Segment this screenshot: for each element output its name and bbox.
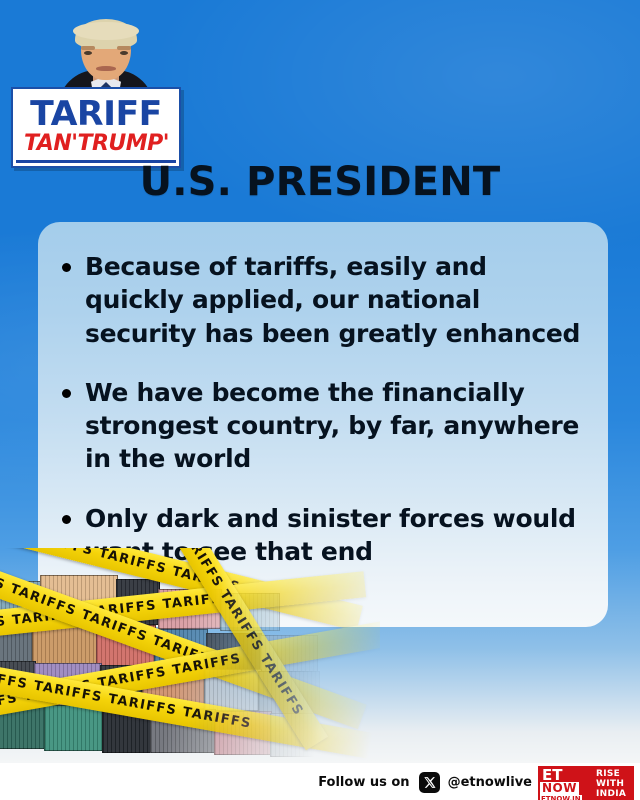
bullet-dot-icon: [62, 263, 71, 272]
tariff-tantrump-logo: TARIFF TAN'TRUMP': [13, 89, 179, 166]
tariff-tape-overlay: TARIFFS TARIFFS TARIFFS TARIFFS TARIFFS …: [0, 548, 380, 763]
bullet-dot-icon: [62, 389, 71, 398]
etnow-logo-mark: ET NOW ETNOW.IN: [540, 768, 592, 798]
follow-us-label: Follow us on: [318, 775, 409, 790]
etnow-tagline-line3: INDIA: [596, 789, 632, 799]
social-handle[interactable]: @etnowlive: [448, 775, 532, 790]
follow-us-group: Follow us on @etnowlive: [318, 772, 532, 793]
portrait-eye-right: [120, 51, 128, 55]
etnow-tagline-line1: RISE: [596, 769, 632, 779]
page-title: U.S. PRESIDENT: [0, 159, 640, 205]
portrait-brow-right: [117, 46, 131, 50]
bullet-text: Because of tariffs, easily and quickly a…: [85, 250, 584, 350]
bullet-item: Because of tariffs, easily and quickly a…: [62, 250, 584, 350]
artwork-area: TARIFF TAN'TRUMP' U.S. PRESIDENT Because…: [0, 0, 640, 763]
etnow-logo[interactable]: ET NOW ETNOW.IN RISE WITH INDIA: [538, 766, 634, 800]
etnow-tagline-line2: WITH: [596, 779, 632, 789]
portrait-mouth: [96, 66, 116, 71]
etnow-tagline: RISE WITH INDIA: [592, 768, 632, 798]
logo-line-tariff: TARIFF: [23, 97, 170, 131]
portrait-brow-left: [81, 46, 95, 50]
bullet-item: We have become the financially strongest…: [62, 376, 584, 476]
etnow-now-text: NOW: [540, 782, 579, 795]
x-twitter-icon[interactable]: [419, 772, 440, 793]
logo-line-tantrump: TAN'TRUMP': [24, 133, 168, 155]
footer-bar: Follow us on @etnowlive ET NOW ETNOW.IN …: [0, 763, 640, 800]
bullet-text: We have become the financially strongest…: [85, 376, 584, 476]
etnow-url-text: ETNOW.IN: [540, 795, 582, 800]
portrait-hair-highlight: [73, 22, 139, 40]
bullet-dot-icon: [62, 515, 71, 524]
portrait-eye-left: [84, 51, 92, 55]
poster-root: TARIFF TAN'TRUMP' U.S. PRESIDENT Because…: [0, 0, 640, 800]
